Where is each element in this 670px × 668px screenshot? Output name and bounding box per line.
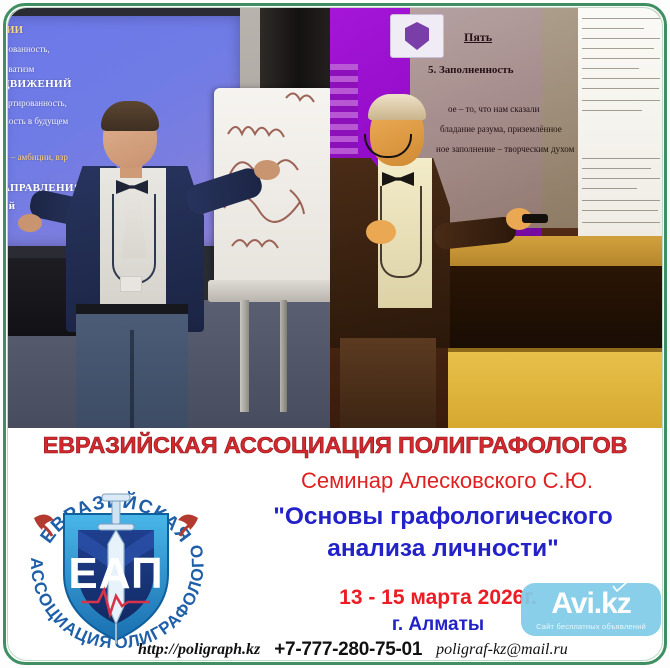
- slide-item-5: 5. Заполненность: [428, 64, 514, 76]
- presenter-left-hand: [366, 220, 396, 244]
- photo-left-speaker-at-flipchart: ИИ рованность, рватизм ДВИЖЕНИЙ ертирова…: [8, 8, 330, 428]
- course-title: "Основы графологического анализа личност…: [218, 501, 668, 565]
- slide-line-8: ий: [8, 200, 15, 212]
- speaker-belt: [76, 304, 188, 314]
- eap-association-logo: ЕВРАЗИЙСКАЯ АССОЦИАЦИЯ ПОЛИГРАФОЛОГОВ: [16, 456, 216, 656]
- slide-body-3: ное заполнение – творческим духом: [436, 144, 574, 154]
- association-title: ЕВРАЗИЙСКАЯ АССОЦИАЦИЯ ПОЛИГРАФОЛОГОВ: [8, 432, 662, 459]
- desk-shadow: [450, 266, 662, 356]
- logo-monogram: ЕАП: [68, 549, 163, 598]
- slide-line-3: ДВИЖЕНИЙ: [8, 78, 72, 90]
- speaker-right-hand: [254, 160, 280, 180]
- seminar-speaker-line: Семинар Алесковского С.Ю.: [232, 468, 662, 494]
- email-address[interactable]: poligraf-kz@mail.ru: [436, 641, 568, 659]
- slide-line-6: о – амбиции, взр: [8, 152, 68, 162]
- course-title-line2: анализа личности": [218, 533, 668, 565]
- yellow-board: [448, 348, 662, 428]
- contact-row: http://poligraph.kz +7-777-280-75-01 pol…: [138, 638, 658, 662]
- presenter-trousers: [340, 338, 436, 428]
- slide-line-0: ИИ: [8, 24, 23, 36]
- course-title-line1: "Основы графологического: [273, 503, 613, 530]
- slide-body-2: бладание разума, приземлённое: [440, 124, 562, 134]
- avi-kz-tagline: Сайт бесплатных объявлений: [536, 622, 646, 631]
- photo-right-speaker-with-headset: Пять 5. Заполненность ое – то, что нам с…: [330, 8, 662, 428]
- check-mark-icon: [612, 582, 628, 592]
- flipchart-tray: [208, 280, 330, 302]
- speaker-lanyard: [112, 194, 156, 284]
- slide-line-5: ность в будущем: [8, 116, 68, 126]
- flipchart-leg-right: [280, 300, 287, 412]
- handwriting-sample-top: [578, 8, 662, 240]
- shield-with-sword-emblem-icon: ЕВРАЗИЙСКАЯ АССОЦИАЦИЯ ПОЛИГРАФОЛОГОВ: [16, 456, 216, 656]
- slide-line-1: рованность,: [8, 44, 50, 54]
- speaker-badge: [120, 276, 142, 292]
- advertisement-poster: ИИ рованность, рватизм ДВИЖЕНИЙ ертирова…: [0, 0, 670, 668]
- eap-logo-watermark-icon: [390, 14, 444, 58]
- avi-kz-watermark[interactable]: Avi.kz Сайт бесплатных объявлений: [521, 583, 661, 636]
- presenter-hair: [368, 94, 426, 120]
- flipchart-leg-left: [240, 300, 249, 412]
- slide-heading: Пять: [464, 30, 492, 45]
- avi-kz-brand: Avi.kz: [551, 589, 631, 619]
- slide-line-4: ертированность,: [8, 98, 67, 108]
- phone-number[interactable]: +7-777-280-75-01: [274, 639, 422, 661]
- speaker-left-hand: [18, 214, 42, 232]
- photo-strip: ИИ рованность, рватизм ДВИЖЕНИЙ ертирова…: [8, 8, 662, 428]
- slide-body-1: ое – то, что нам сказали: [448, 104, 539, 114]
- presenter-remote-clicker: [522, 214, 548, 223]
- website-link[interactable]: http://poligraph.kz: [138, 641, 260, 659]
- speaker-jeans: [76, 308, 188, 428]
- slide-line-2: рватизм: [8, 64, 34, 74]
